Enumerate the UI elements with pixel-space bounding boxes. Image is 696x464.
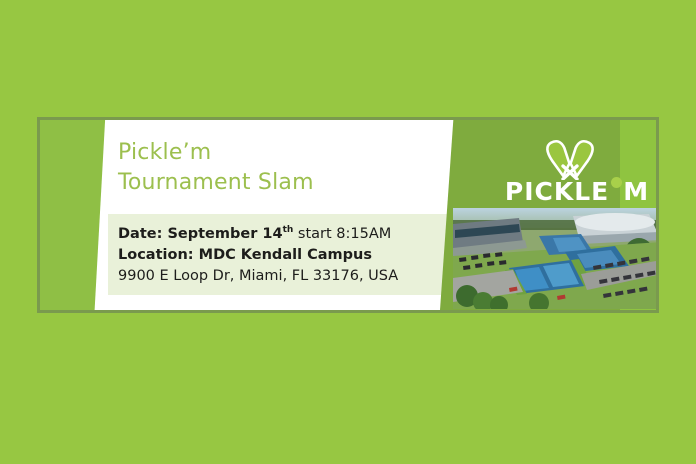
logo-word-primary: PICKLE — [505, 177, 609, 206]
logo-wordmark: PICKLEM — [492, 178, 656, 206]
banner-title: Pickle’m Tournament Slam — [118, 138, 314, 198]
crossed-paddles-icon — [532, 138, 608, 180]
date-value: September 14 — [167, 226, 282, 242]
event-banner: Pickle’m Tournament Slam Date: September… — [37, 117, 659, 313]
brand-logo: PICKLEM — [492, 138, 656, 210]
page-root: Pickle’m Tournament Slam Date: September… — [0, 0, 696, 464]
event-info-box: Date: September 14th start 8:15AM Locati… — [108, 214, 448, 295]
event-date-line: Date: September 14th start 8:15AM — [118, 220, 438, 245]
location-value: MDC Kendall Campus — [199, 247, 372, 263]
date-label: Date: — [118, 226, 162, 242]
campus-aerial-photo — [453, 208, 656, 309]
date-ordinal: th — [283, 225, 294, 235]
logo-word-secondary: M — [623, 177, 649, 206]
location-label: Location: — [118, 247, 194, 263]
date-time: start 8:15AM — [293, 226, 391, 242]
event-location-line: Location: MDC Kendall Campus — [118, 245, 438, 266]
banner-inner: Pickle’m Tournament Slam Date: September… — [40, 120, 656, 310]
event-address-line: 9900 E Loop Dr, Miami, FL 33176, USA — [118, 266, 438, 287]
title-line-1: Pickle’m — [118, 138, 314, 168]
pickleball-dot-icon — [611, 177, 622, 188]
title-line-2: Tournament Slam — [118, 168, 314, 198]
